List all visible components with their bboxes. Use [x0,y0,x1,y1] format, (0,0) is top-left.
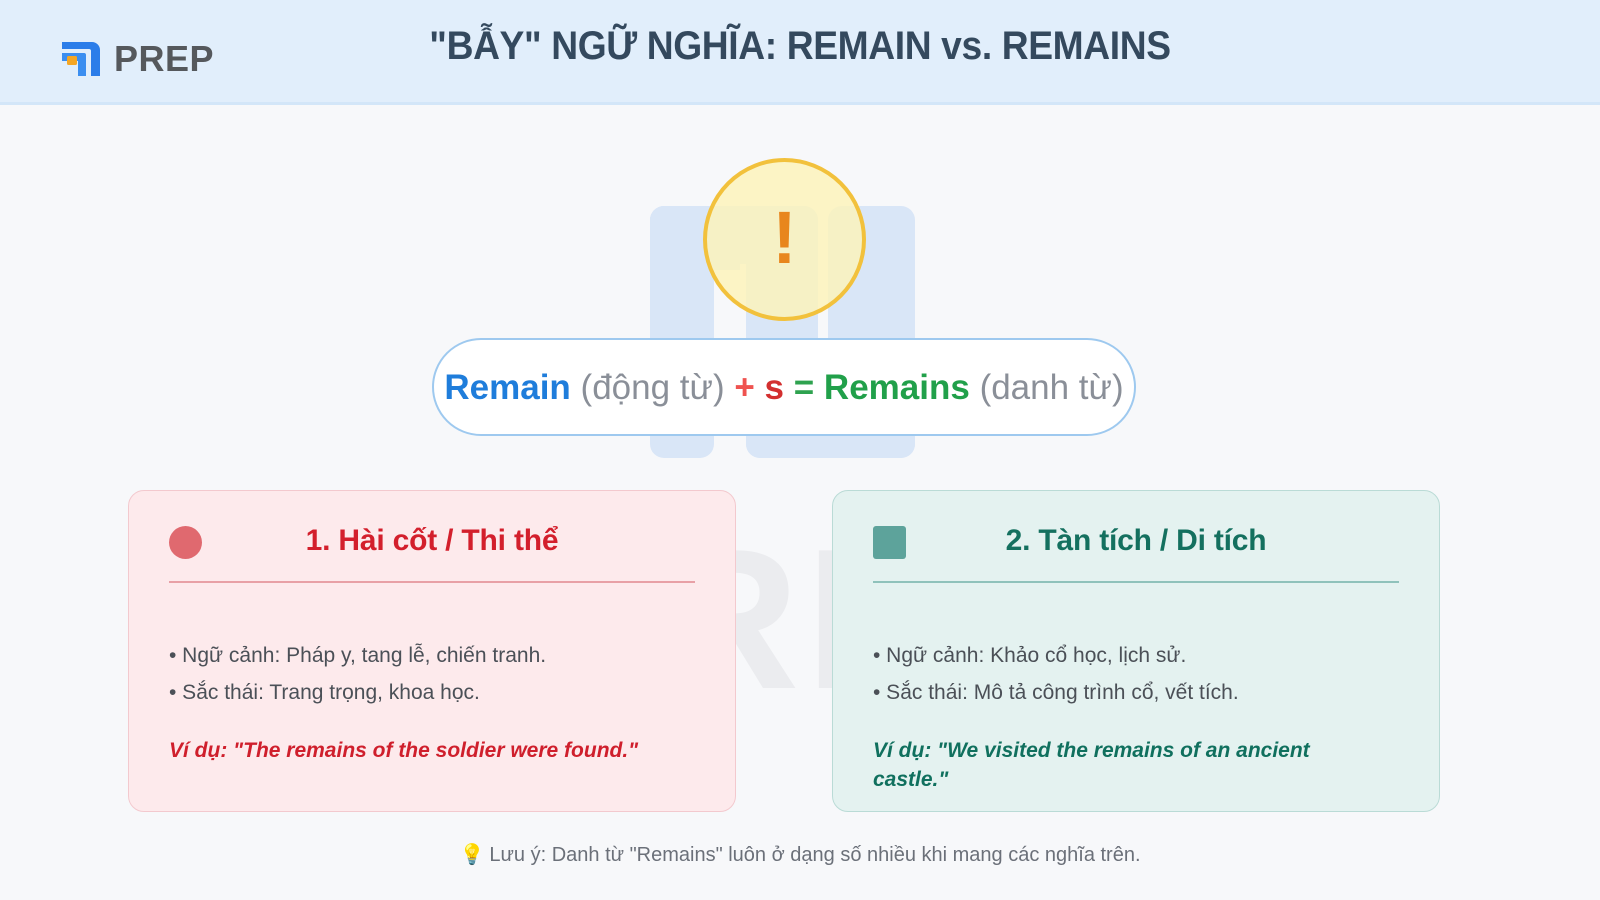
formula-box: Remain (động từ) + s = Remains (danh từ) [432,338,1136,436]
card-1-divider [169,581,695,583]
red-circle-marker-icon [169,526,202,559]
card-1-header: 1. Hài cốt / Thi thể [169,517,695,565]
meaning-cards: 1. Hài cốt / Thi thể • Ngữ cảnh: Pháp y,… [0,0,1600,900]
card-1-bullet-1: • Ngữ cảnh: Pháp y, tang lễ, chiến tranh… [169,637,695,674]
card-2-header: 2. Tàn tích / Di tích [873,517,1399,565]
infographic-page: PREP "BẪY" NGỮ NGHĨA: REMAIN vs. REMAINS… [0,0,1600,900]
formula-result-note: (danh từ) [980,368,1124,407]
card-1-title: 1. Hài cốt / Thi thể [169,526,695,556]
card-1-bullet-2: • Sắc thái: Trang trọng, khoa học. [169,674,695,711]
card-2-example: Ví dụ: "We visited the remains of an anc… [873,737,1343,795]
formula-base-note: (động từ) [581,368,725,407]
card-2-divider [873,581,1399,583]
meaning-card-1: 1. Hài cốt / Thi thể • Ngữ cảnh: Pháp y,… [128,490,736,812]
lightbulb-icon: 💡 [459,844,484,866]
formula-equals-sign: = [794,368,814,407]
formula-base-word: Remain [444,368,570,407]
formula-plus-sign: + [734,368,754,407]
card-2-title: 2. Tàn tích / Di tích [873,526,1399,556]
meaning-card-2: 2. Tàn tích / Di tích • Ngữ cảnh: Khảo c… [832,490,1440,812]
card-2-bullet-2: • Sắc thái: Mô tả công trình cổ, vết tíc… [873,674,1399,711]
formula-line: Remain (động từ) + s = Remains (danh từ) [444,370,1123,405]
footer-note: 💡Lưu ý: Danh từ "Remains" luôn ở dạng số… [0,842,1600,867]
card-2-bullets: • Ngữ cảnh: Khảo cổ học, lịch sử. • Sắc … [873,637,1399,712]
card-2-bullet-1: • Ngữ cảnh: Khảo cổ học, lịch sử. [873,637,1399,674]
formula-suffix: s [765,368,784,407]
card-1-bullets: • Ngữ cảnh: Pháp y, tang lễ, chiến tranh… [169,637,695,712]
formula-result-word: Remains [824,368,970,407]
teal-square-marker-icon [873,526,906,559]
footer-note-text: Lưu ý: Danh từ "Remains" luôn ở dạng số … [489,844,1140,866]
card-1-example: Ví dụ: "The remains of the soldier were … [169,737,639,766]
